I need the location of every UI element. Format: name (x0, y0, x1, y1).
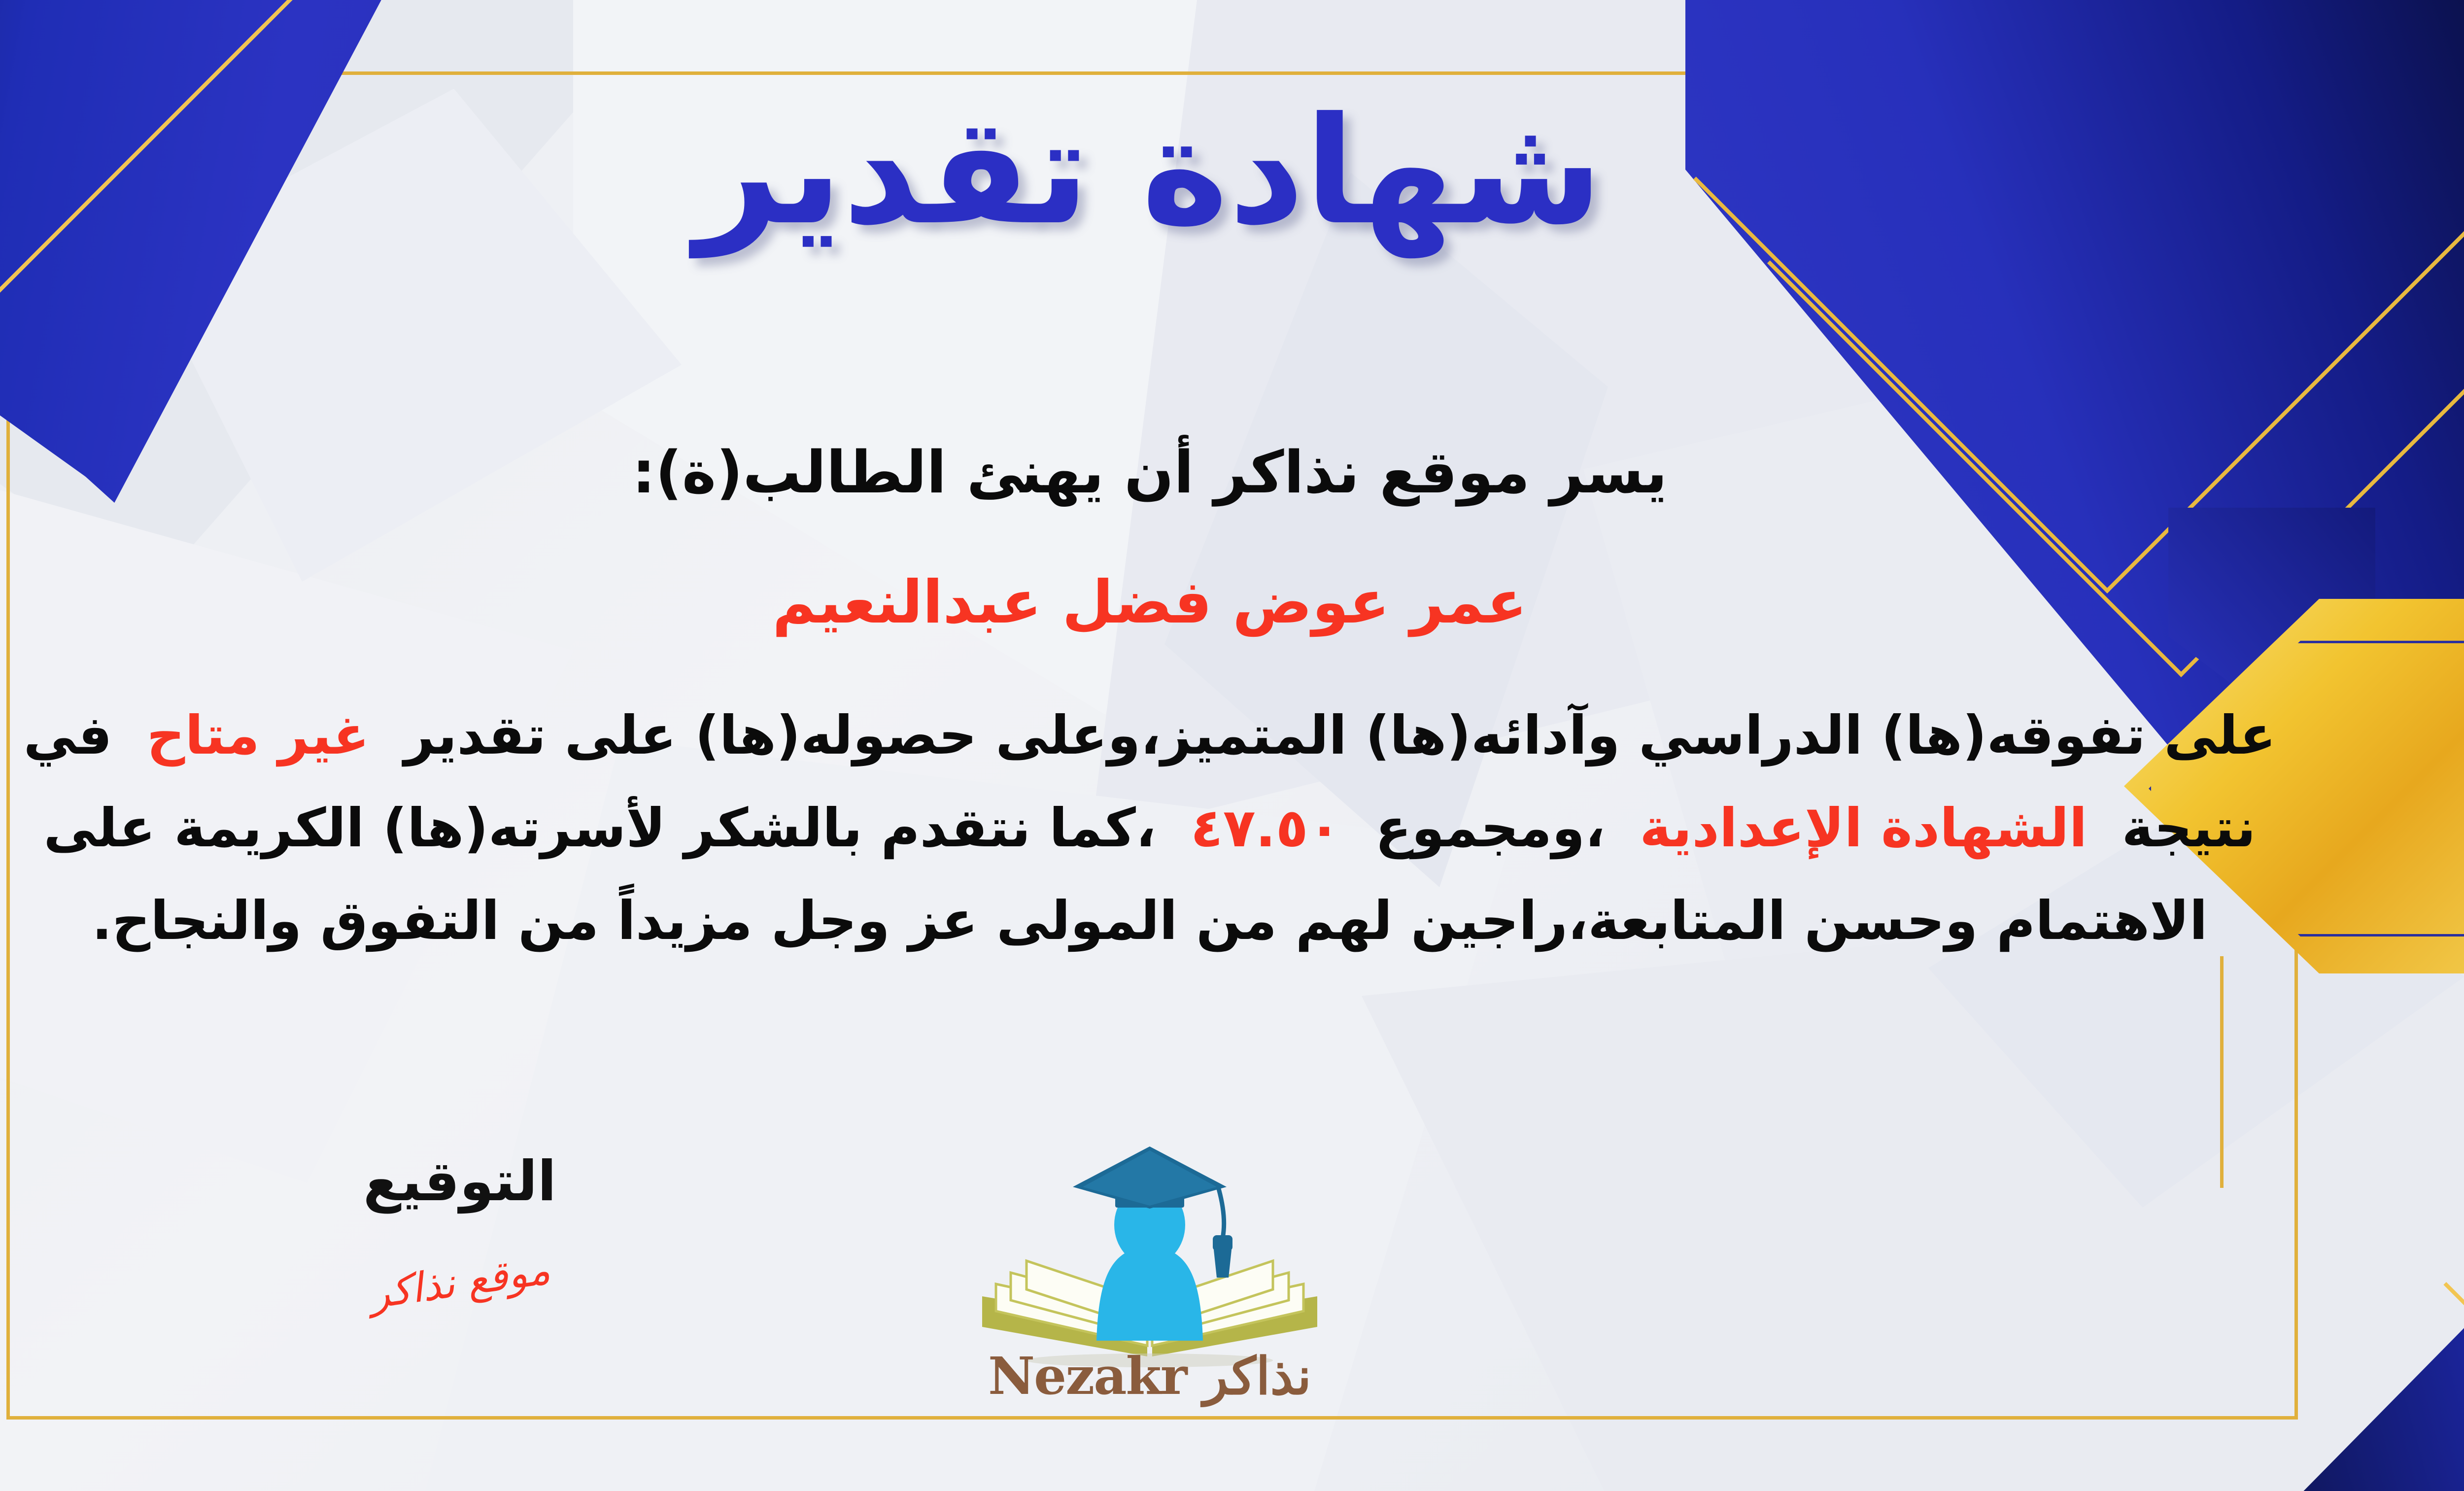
total-score: ٤٧.٥٠ (1191, 798, 1341, 859)
certificate-title: شهادة تقدير (0, 79, 2464, 264)
certificate-content: شهادة تقدير يسر موقع نذاكر أن يهنئ الطال… (0, 0, 2464, 1491)
intro-line: يسر موقع نذاكر أن يهنئ الطالب(ة): (21, 429, 2278, 516)
grade-value: غير متاح (147, 705, 370, 766)
signature-block: التوقيع موقع نذاكر (238, 1148, 682, 1306)
tassel-knot (1213, 1235, 1232, 1251)
tassel-cord (1219, 1189, 1224, 1238)
tassel-fringe (1214, 1250, 1232, 1278)
student-name: عمر عوض فضل عبدالنعيم (21, 561, 2278, 644)
signature-handwritten: موقع نذاكر (367, 1247, 553, 1318)
certificate-body: يسر موقع نذاكر أن يهنئ الطالب(ة): عمر عو… (21, 429, 2278, 968)
cap-board-highlight (1083, 1150, 1217, 1206)
exam-name: الشهادة الإعدادية (1640, 798, 2087, 859)
signature-label: التوقيع (238, 1148, 682, 1214)
paragraph-segment-1: على تفوقه(ها) الدراسي وآدائه(ها) المتميز… (404, 705, 2276, 766)
certificate-canvas: شهادة تقدير يسر موقع نذاكر أن يهنئ الطال… (0, 0, 2464, 1491)
logo-brand-text: Nezakr نذاكر (953, 1346, 1347, 1406)
nezakr-logo: Nezakr نذاكر (953, 1134, 1347, 1439)
award-paragraph: على تفوقه(ها) الدراسي وآدائه(ها) المتميز… (21, 690, 2278, 968)
paragraph-segment-3: ،ومجموع (1375, 798, 1606, 859)
